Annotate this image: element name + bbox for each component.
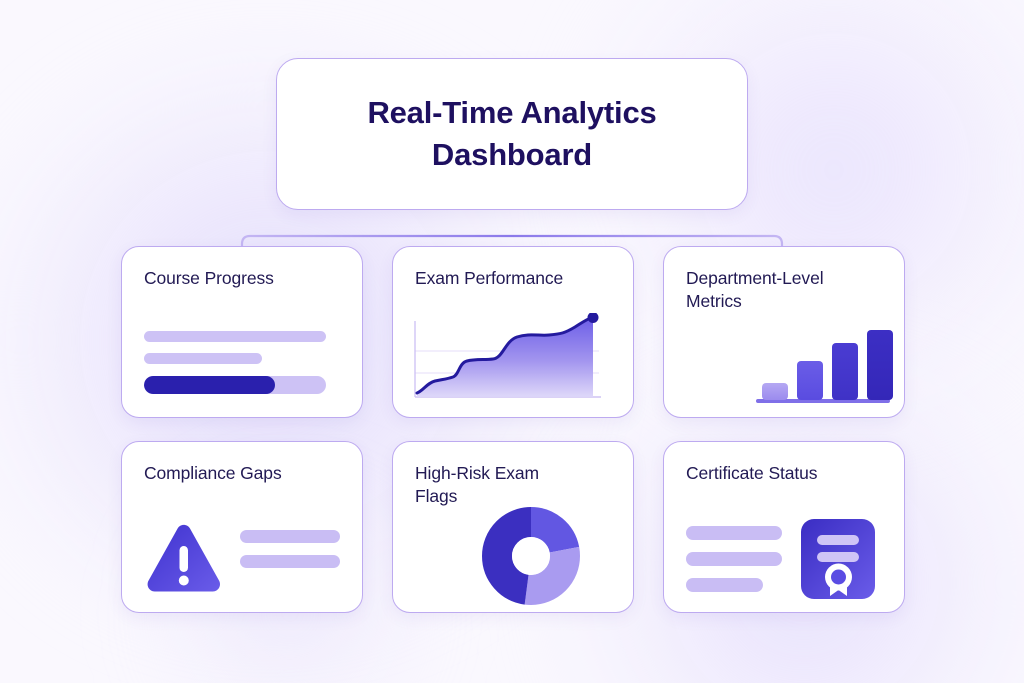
bar-1	[762, 383, 788, 400]
page-title-line-1: Real-Time Analytics	[367, 95, 656, 130]
compliance-line-2	[240, 555, 340, 568]
node-card-certificate-status[interactable]: Certificate Status	[663, 441, 905, 613]
node-title-line-2: Flags	[415, 486, 457, 506]
node-title-line-1: Department-Level	[686, 268, 824, 288]
diagram-stage: Real-Time Analytics Dashboard Course Pro…	[0, 0, 1024, 683]
high-risk-donut-chart	[393, 508, 633, 612]
page-title: Real-Time Analytics Dashboard	[367, 92, 656, 176]
bar-2	[797, 361, 823, 400]
root-title-card[interactable]: Real-Time Analytics Dashboard	[276, 58, 748, 210]
certificate-line-2	[686, 552, 782, 566]
node-card-high-risk-exam-flags[interactable]: High-Risk Exam Flags	[392, 441, 634, 613]
progress-track[interactable]	[144, 376, 326, 394]
department-metrics-chart	[664, 313, 904, 417]
compliance-line-1	[240, 530, 340, 543]
progress-fill	[144, 376, 275, 394]
warning-triangle-icon	[142, 522, 226, 600]
certificate-line-3	[686, 578, 763, 592]
area-chart-icon	[393, 313, 635, 417]
certificate-award-icon	[800, 518, 878, 602]
node-card-course-progress[interactable]: Course Progress	[121, 246, 363, 418]
node-title-line-1: High-Risk Exam	[415, 463, 539, 483]
page-title-line-2: Dashboard	[432, 137, 592, 172]
node-title-department-level-metrics: Department-Level Metrics	[686, 267, 882, 313]
node-title-certificate-status: Certificate Status	[686, 462, 882, 485]
node-card-exam-performance[interactable]: Exam Performance	[392, 246, 634, 418]
progress-bar-row-2	[144, 353, 262, 364]
node-card-department-level-metrics[interactable]: Department-Level Metrics	[663, 246, 905, 418]
bar-4	[867, 330, 893, 400]
certificate-status-visual	[664, 508, 904, 612]
node-title-high-risk-exam-flags: High-Risk Exam Flags	[415, 462, 611, 508]
node-title-exam-performance: Exam Performance	[415, 267, 611, 290]
course-progress-bars	[122, 313, 362, 417]
node-title-course-progress: Course Progress	[144, 267, 340, 290]
node-card-compliance-gaps[interactable]: Compliance Gaps	[121, 441, 363, 613]
certificate-line-1	[686, 526, 782, 540]
node-title-line-2: Metrics	[686, 291, 742, 311]
donut-chart-icon	[479, 504, 583, 608]
node-title-compliance-gaps: Compliance Gaps	[144, 462, 340, 485]
progress-bar-row-1	[144, 331, 326, 342]
compliance-gaps-visual	[122, 508, 362, 612]
bar-3	[832, 343, 858, 400]
bar-chart-icon	[662, 313, 904, 417]
exam-performance-chart	[393, 313, 633, 417]
